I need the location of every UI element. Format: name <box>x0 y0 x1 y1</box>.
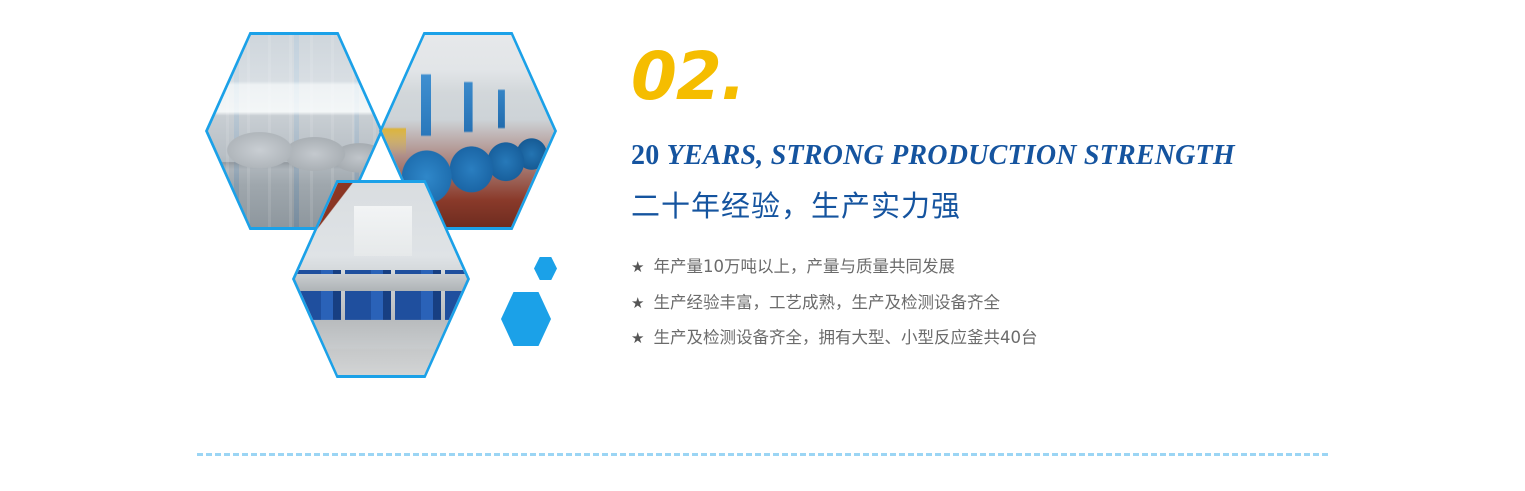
star-icon: ★ <box>631 260 644 275</box>
decorative-small-hexagon-icon <box>534 257 557 280</box>
headline-english: 20 YEARS, STRONG PRODUCTION STRENGTH <box>631 140 1391 172</box>
hexagon-photo-gallery <box>0 0 600 420</box>
headline-chinese: 二十年经验，生产实力强 <box>631 183 1391 225</box>
list-item: ★ 生产经验丰富，工艺成熟，生产及检测设备齐全 <box>631 295 1391 312</box>
section-content: 02. 20 YEARS, STRONG PRODUCTION STRENGTH… <box>631 0 1391 366</box>
list-item-label: 生产及检测设备齐全，拥有大型、小型反应釜共40台 <box>653 330 1037 347</box>
headline-english-lead: 20 <box>631 140 667 171</box>
headline-english-rest: YEARS, STRONG PRODUCTION STRENGTH <box>667 140 1235 171</box>
list-item-label: 年产量10万吨以上，产量与质量共同发展 <box>653 259 955 276</box>
star-icon: ★ <box>631 331 644 346</box>
list-item-label: 生产经验丰富，工艺成熟，生产及检测设备齐全 <box>653 295 1000 312</box>
list-item: ★ 生产及检测设备齐全，拥有大型、小型反应釜共40台 <box>631 330 1391 347</box>
dashed-divider <box>197 453 1328 456</box>
feature-bullet-list: ★ 年产量10万吨以上，产量与质量共同发展 ★ 生产经验丰富，工艺成熟，生产及检… <box>631 259 1391 347</box>
list-item: ★ 年产量10万吨以上，产量与质量共同发展 <box>631 259 1391 276</box>
star-icon: ★ <box>631 296 644 311</box>
section-number: 02. <box>631 44 1391 110</box>
decorative-large-hexagon-icon <box>501 292 551 346</box>
